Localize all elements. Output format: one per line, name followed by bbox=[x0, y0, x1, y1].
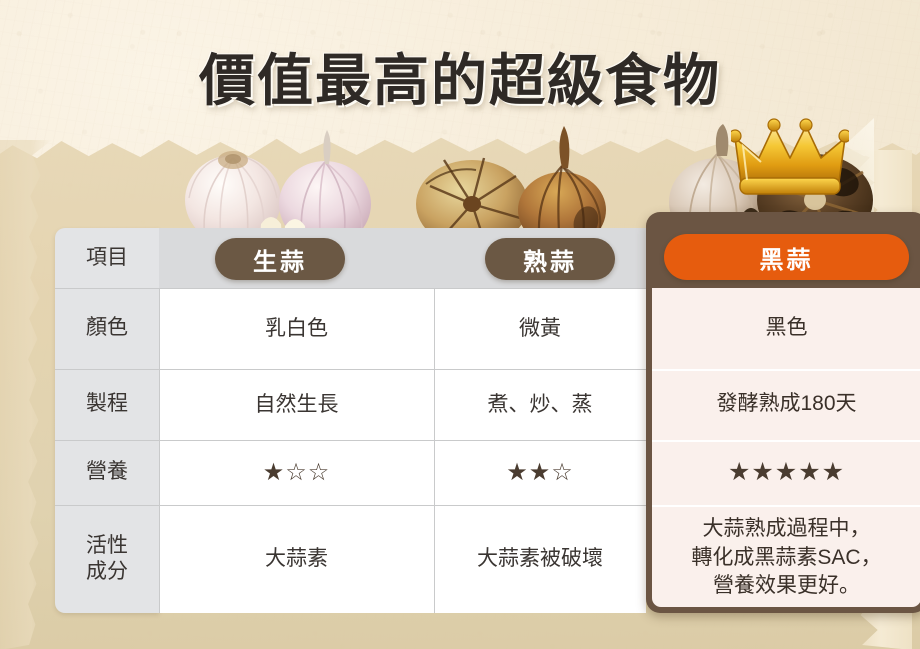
rating-stars-black: ★★★★★ bbox=[728, 460, 845, 485]
cell-black-nutrition: ★★★★★ bbox=[652, 440, 920, 505]
comparison-table: 生蒜 熟蒜 項目 顏色 製程 營養 活性 成分 乳白色 自然生長 ★☆☆ 大蒜素… bbox=[55, 228, 873, 613]
column-header-item: 項目 bbox=[55, 228, 159, 288]
cell-cooked-active-compound: 大蒜素被破壞 bbox=[434, 505, 646, 613]
page-title: 價值最高的超級食物 bbox=[0, 36, 920, 117]
cell-cooked-process: 煮、炒、蒸 bbox=[434, 369, 646, 440]
row-label-nutrition: 營養 bbox=[55, 440, 159, 505]
cell-black-active-compound-line1: 大蒜熟成過程中， bbox=[703, 515, 871, 543]
rating-stars-raw: ★☆☆ bbox=[263, 461, 331, 485]
cell-black-active-compound-line3: 營養效果更好。 bbox=[713, 572, 860, 600]
black-garlic-column[interactable]: 黑色 發酵熟成180天 ★★★★★ 大蒜熟成過程中， 轉化成黑蒜素SAC， 營養… bbox=[646, 212, 920, 613]
cell-black-process: 發酵熟成180天 bbox=[652, 369, 920, 440]
row-label-process: 製程 bbox=[55, 369, 159, 440]
cell-black-color: 黑色 bbox=[652, 288, 920, 369]
column-header-cooked-garlic[interactable]: 熟蒜 bbox=[485, 238, 615, 280]
infographic-root: 價值最高的超級食物 bbox=[0, 0, 920, 649]
row-label-active-compound-line1: 活性 bbox=[86, 533, 128, 559]
cell-raw-active-compound: 大蒜素 bbox=[159, 505, 434, 613]
rating-stars-cooked: ★★☆ bbox=[506, 461, 574, 485]
cell-cooked-nutrition: ★★☆ bbox=[434, 440, 646, 505]
cell-black-active-compound-line2: 轉化成黑蒜素SAC， bbox=[691, 544, 881, 572]
row-label-active-compound-line2: 成分 bbox=[86, 559, 128, 585]
column-header-raw-garlic[interactable]: 生蒜 bbox=[215, 238, 345, 280]
row-label-active-compound: 活性 成分 bbox=[55, 505, 159, 613]
column-header-black-garlic[interactable]: 黑蒜 bbox=[664, 234, 909, 280]
cell-raw-color: 乳白色 bbox=[159, 288, 434, 369]
crown-icon bbox=[731, 116, 849, 202]
black-garlic-column-inner: 黑色 發酵熟成180天 ★★★★★ 大蒜熟成過程中， 轉化成黑蒜素SAC， 營養… bbox=[652, 288, 920, 607]
cell-cooked-color: 微黃 bbox=[434, 288, 646, 369]
cell-raw-nutrition: ★☆☆ bbox=[159, 440, 434, 505]
cell-black-active-compound: 大蒜熟成過程中， 轉化成黑蒜素SAC， 營養效果更好。 bbox=[652, 505, 920, 611]
row-label-color: 顏色 bbox=[55, 288, 159, 369]
cell-raw-process: 自然生長 bbox=[159, 369, 434, 440]
